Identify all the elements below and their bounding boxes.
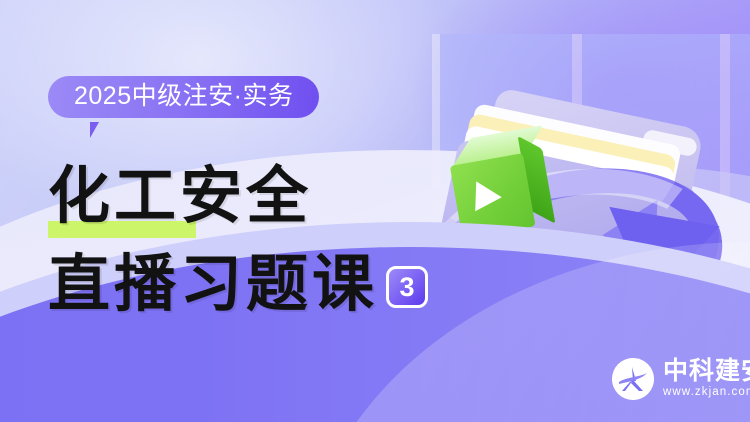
tag-speech-tail <box>90 122 109 138</box>
course-tag-badge: 2025中级注安·实务 <box>48 76 319 118</box>
zkjan-logo-icon <box>612 358 654 400</box>
course-banner: 2025中级注安·实务 化工安全 直播习题课 3 中科建安 www.zkjan.… <box>0 0 750 422</box>
page-title-line-2: 直播习题课 <box>48 254 378 316</box>
page-title-line-1: 化工安全 <box>48 166 312 228</box>
brand-url: www.zkjan.com <box>663 385 750 400</box>
episode-number-badge: 3 <box>386 266 428 308</box>
brand-logo-text: 中科建安 www.zkjan.com <box>663 358 750 399</box>
play-triangle-icon <box>475 181 502 212</box>
brand-logo: 中科建安 www.zkjan.com <box>612 358 750 400</box>
brand-name: 中科建安 <box>663 358 750 384</box>
